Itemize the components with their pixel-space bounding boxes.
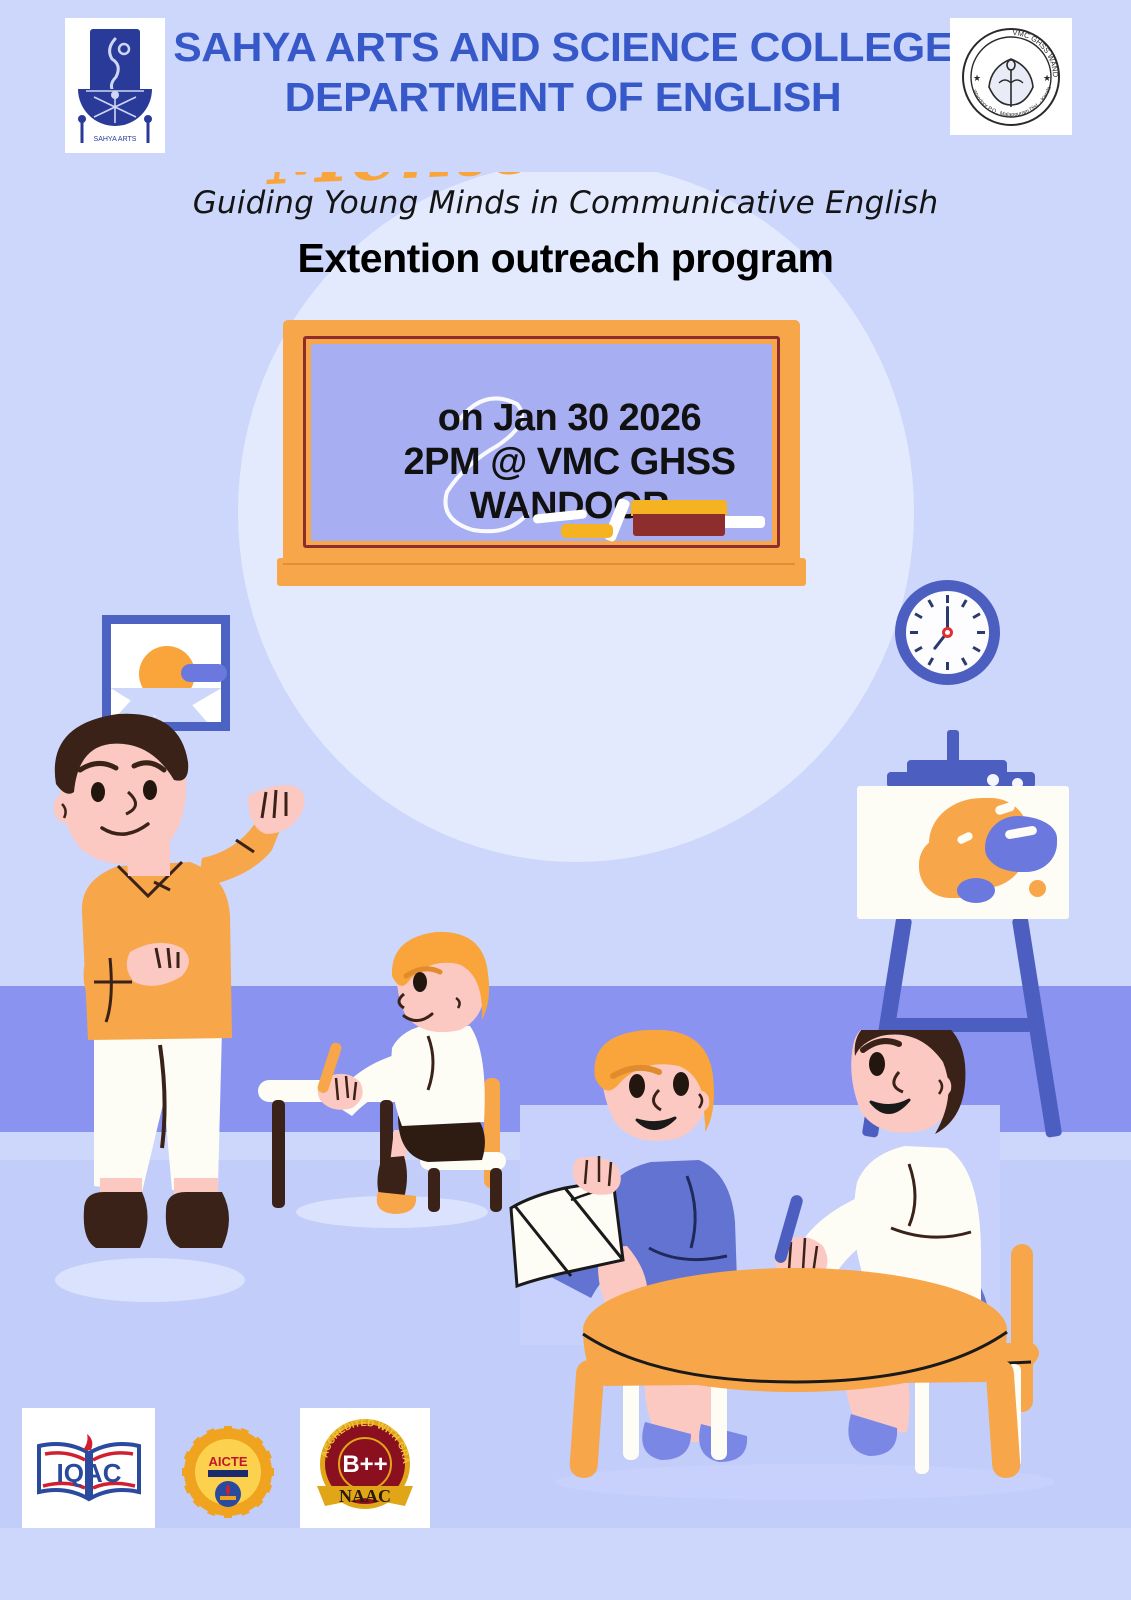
svg-text:IQAC: IQAC — [56, 1458, 121, 1488]
blackboard-frame: on Jan 30 2026 2PM @ VMC GHSS WANDOOR — [283, 320, 800, 565]
accreditation-logos: IQAC — [0, 1408, 1131, 1528]
eraser-body — [633, 514, 725, 536]
college-name-line1: SAHYA ARTS AND SCIENCE COLLEGE — [173, 24, 953, 70]
iqac-book-icon: IQAC — [33, 1426, 145, 1510]
college-emblem-icon: SAHYA ARTS — [72, 25, 158, 147]
event-details-text: on Jan 30 2026 2PM @ VMC GHSS WANDOOR — [339, 396, 800, 528]
poster-root: SAHYA ARTS SAHYA ARTS AND SCIENCE COLLEG… — [0, 0, 1131, 1600]
svg-text:★: ★ — [973, 73, 981, 83]
clock-tick — [927, 657, 934, 665]
clock-tick — [961, 599, 968, 607]
poster-header: SAHYA ARTS SAHYA ARTS AND SCIENCE COLLEG… — [0, 0, 1131, 172]
paint-blob-blue-2 — [957, 878, 995, 903]
iqac-logo: IQAC — [22, 1408, 155, 1528]
blackboard-surface: on Jan 30 2026 2PM @ VMC GHSS WANDOOR — [311, 344, 772, 541]
clock-tick — [910, 631, 918, 634]
easel-canvas — [857, 786, 1069, 919]
clock-center-pin — [942, 627, 953, 638]
event-date-line: on Jan 30 2026 — [339, 396, 800, 440]
wall-clock — [895, 580, 1000, 685]
svg-text:★: ★ — [1043, 73, 1051, 83]
department-name-line2: DEPARTMENT OF ENGLISH — [152, 72, 974, 122]
clock-tick — [914, 612, 922, 619]
clock-tick — [977, 631, 985, 634]
chalk-yellow — [561, 524, 613, 538]
clock-face — [906, 591, 989, 674]
clock-tick — [972, 646, 980, 653]
blackboard-ledge — [277, 558, 806, 586]
paint-blob-blue — [985, 816, 1057, 872]
aicte-logo: AICTE — [182, 1426, 274, 1518]
aicte-gear-icon: AICTE — [182, 1426, 274, 1518]
school-seal-icon: VMC GHSS WANDOOR Wandoor P.O., Malappura… — [959, 25, 1063, 129]
clock-tick — [972, 612, 980, 619]
blackboard: on Jan 30 2026 2PM @ VMC GHSS WANDOOR — [283, 320, 813, 585]
event-tagline: Guiding Young Minds in Communicative Eng… — [0, 185, 1131, 221]
clock-tick — [946, 595, 949, 603]
event-time-venue-line: 2PM @ VMC GHSS — [339, 440, 800, 484]
naac-logo: ACCREDITED WITH GRADE B++ NAAC — [300, 1408, 430, 1528]
svg-text:B++: B++ — [342, 1451, 387, 1478]
clock-tick — [914, 646, 922, 653]
naac-badge-icon: ACCREDITED WITH GRADE B++ NAAC — [309, 1414, 421, 1522]
paint-dot — [1029, 880, 1046, 897]
sahya-college-logo: SAHYA ARTS — [65, 18, 165, 153]
bottom-background-strip — [0, 1528, 1131, 1600]
svg-text:SAHYA ARTS: SAHYA ARTS — [94, 136, 137, 143]
svg-text:NAAC: NAAC — [339, 1486, 391, 1506]
clock-tick — [927, 599, 934, 607]
svg-text:AICTE: AICTE — [209, 1454, 248, 1469]
program-type: Extention outreach program — [0, 235, 1131, 282]
easel-knob — [987, 774, 999, 786]
clock-tick — [946, 662, 949, 670]
college-title: SAHYA ARTS AND SCIENCE COLLEGE DEPARTMEN… — [152, 22, 974, 122]
vmc-ghss-wandoor-logo: VMC GHSS WANDOOR Wandoor P.O., Malappura… — [950, 18, 1072, 135]
student-at-desk — [252, 930, 532, 1230]
clock-tick — [961, 657, 968, 665]
picture-cloud-shape-1 — [181, 664, 227, 682]
